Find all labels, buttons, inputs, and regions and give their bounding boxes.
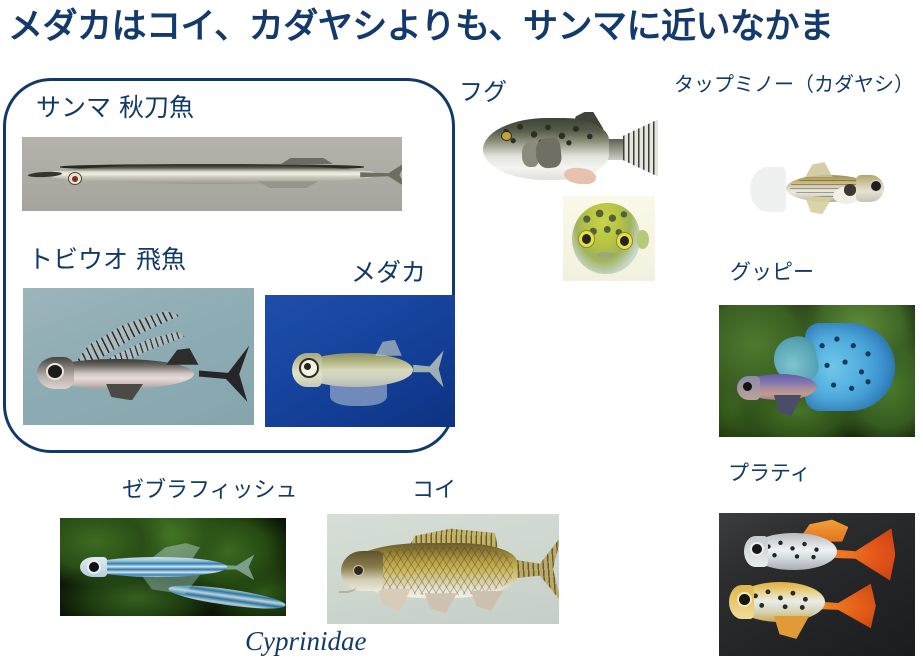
photo-medaka — [265, 295, 455, 427]
page-title: メダカはコイ、カダヤシよりも、サンマに近いなかま — [8, 0, 923, 49]
carp-barbel — [339, 580, 358, 593]
label-puffer: フグ — [459, 72, 507, 107]
photo-flyingfish — [23, 288, 254, 425]
label-carp: コイ — [412, 472, 456, 504]
saury-caudal-fin — [360, 162, 402, 187]
topminnow-eye — [870, 180, 882, 192]
platy-2-spot-pattern — [743, 585, 821, 619]
label-flyingfish: トビウオ 飛魚 — [28, 240, 186, 276]
photo-green-puffer — [563, 196, 655, 281]
carp-anal-fin — [471, 591, 503, 611]
photo-topminnow — [719, 120, 915, 244]
saury-body — [45, 165, 379, 184]
carp-eye — [353, 565, 364, 576]
green-puffer-mouth — [596, 252, 614, 258]
label-topminnow: タップミノー（カダヤシ） — [674, 68, 914, 97]
green-puffer-eye-left — [578, 230, 595, 248]
label-platy: プラティ — [728, 457, 811, 487]
zebrafish-body — [87, 557, 227, 577]
saury-eye — [68, 172, 82, 185]
platy-2-eye — [737, 592, 752, 607]
slide-canvas: メダカはコイ、カダヤシよりも、サンマに近いなかま サンマ 秋刀魚 トビウオ 飛魚… — [0, 0, 923, 661]
guppy-caudal-spot-pattern — [809, 326, 891, 408]
puffer-caudal-fin — [623, 118, 658, 178]
green-puffer-eye-right — [616, 232, 633, 250]
topminnow-dorsal-fin — [805, 162, 832, 177]
carp-pectoral-fin — [378, 589, 410, 611]
label-medaka: メダカ — [351, 253, 426, 289]
carp-caudal-fin — [515, 536, 559, 602]
label-cyprinidae: Cyprinidae — [245, 626, 367, 657]
guppy-eye — [743, 382, 752, 391]
flyingfish-dorsal-fin — [166, 348, 198, 364]
flyingfish-pelvic-fin — [106, 384, 143, 400]
puffer-eye — [501, 131, 512, 141]
zebrafish-dorsal-fin — [150, 540, 200, 560]
carp-pelvic-fin — [424, 593, 456, 613]
label-zebrafish: ゼブラフィッシュ — [122, 472, 298, 504]
label-guppy: グッピー — [730, 256, 814, 286]
photo-carp — [327, 514, 559, 624]
platy-1-spot-pattern — [758, 536, 832, 567]
photo-platy — [719, 513, 915, 656]
photo-saury — [22, 137, 402, 211]
medaka-dorsal-fin — [375, 340, 402, 356]
label-saury: サンマ 秋刀魚 — [36, 88, 194, 124]
photo-guppy — [719, 305, 915, 437]
medaka-caudal-fin — [413, 348, 443, 390]
platy-2-anal-fin — [774, 616, 809, 639]
guppy-anal-fin — [774, 395, 801, 416]
photo-puffer — [483, 112, 658, 184]
green-puffer-pectoral-fin — [637, 230, 650, 249]
photo-zebrafish — [60, 518, 286, 616]
topminnow-gravid-spot — [844, 184, 856, 195]
topminnow-anal-fin — [805, 197, 832, 214]
saury-dorsal-fin — [280, 158, 333, 165]
saury-anal-fin — [258, 181, 319, 188]
platy-1-eye — [750, 542, 764, 556]
flyingfish-caudal-fin — [199, 343, 250, 403]
topminnow-caudal-fin — [750, 167, 785, 212]
